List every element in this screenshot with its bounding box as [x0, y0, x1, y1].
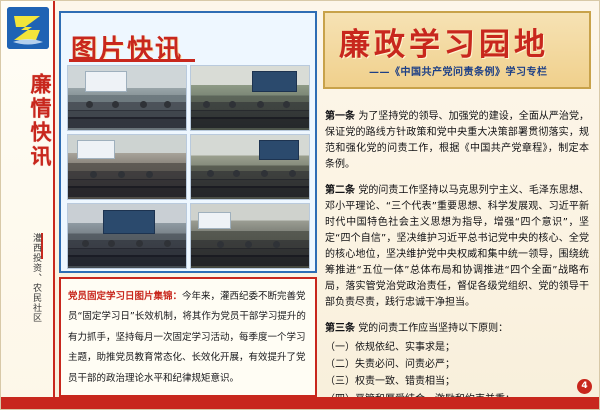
person-head [257, 101, 264, 108]
projector-screen-icon [252, 71, 296, 92]
left-banner-subtitle-text: 灌西投资、农民社区 [31, 233, 41, 323]
person-head [118, 171, 125, 178]
photo-meeting-5[interactable]: 会议室学习场景五 [67, 203, 187, 269]
person-head [108, 240, 115, 247]
left-banner-title: 廉情快讯 [5, 73, 51, 169]
seated-row [191, 186, 309, 197]
study-body: 第一条 为了坚持党的领导、加强党的建设，全面从严治党，保证党的路线方针政策和党中… [323, 95, 591, 410]
person-head [203, 101, 210, 108]
principle-item: （二）失责必问、问责必严； [325, 356, 589, 373]
seated-row [68, 117, 186, 128]
photo-meeting-6[interactable]: 会议室学习场景六 [190, 203, 310, 269]
article-2-label: 第二条 [325, 185, 355, 196]
person-head [146, 171, 153, 178]
principle-item: （一）依规依纪、实事求是； [325, 339, 589, 356]
caption-title: 党员固定学习日图片集锦： [68, 291, 182, 302]
projector-screen-icon [103, 210, 155, 234]
person-head [283, 101, 290, 108]
study-main-title: 廉政学习园地 [339, 19, 549, 64]
newsletter-page: 廉情快讯 灌西投资、农民社区 图片快讯 会议室学习场景一 [0, 0, 600, 410]
article-2: 第二条 党的问责工作坚持以马克思列宁主义、毛泽东思想、邓小平理论、“三个代表”重… [325, 183, 589, 311]
photo-grid: 会议室学习场景一 会议室学习场景二 会 [67, 65, 311, 269]
projector-screen-icon [259, 140, 299, 160]
person-head [229, 101, 236, 108]
person-head [245, 241, 252, 248]
footer-bar [1, 397, 600, 409]
projector-screen-icon [77, 140, 114, 159]
seated-row [68, 186, 186, 197]
person-head [82, 240, 89, 247]
article-1-label: 第一条 [325, 111, 355, 122]
left-banner-subtitle: 灌西投资、农民社区 [13, 233, 43, 323]
photo-meeting-3[interactable]: 会议室学习场景三 [67, 134, 187, 200]
zhangjiang-z-logo-icon [7, 7, 49, 49]
study-sub-title: ——《中国共产党问责条例》学习专栏 [369, 63, 548, 78]
photo-meeting-1[interactable]: 会议室学习场景一 [67, 65, 187, 131]
person-head [136, 240, 143, 247]
study-header: 廉政学习园地 ——《中国共产党问责条例》学习专栏 [323, 11, 591, 89]
person-head [164, 240, 171, 247]
caption-text: 今年来，灌西纪委不断完善党员“固定学习日”长效机制，将其作为党员干部学习提升的有… [68, 291, 306, 384]
page-number-badge: 4 [577, 379, 592, 394]
seated-row [68, 255, 186, 266]
article-2-text: 党的问责工作坚持以马克思列宁主义、毛泽东思想、邓小平理论、“三个代表”重要思想、… [325, 185, 589, 308]
person-head [273, 241, 280, 248]
photo-news-title-rule [69, 59, 195, 62]
photo-caption-box: 党员固定学习日图片集锦：今年来，灌西纪委不断完善党员“固定学习日”长效机制，将其… [59, 277, 317, 397]
photo-news-panel: 图片快讯 会议室学习场景一 [59, 11, 317, 273]
projector-screen-icon [198, 212, 231, 229]
photo-meeting-4[interactable]: 会议室学习场景四 [190, 134, 310, 200]
principle-item: （三）权责一致、错责相当； [325, 373, 589, 390]
article-3-label: 第三条 [325, 323, 355, 334]
person-head [90, 171, 97, 178]
seated-row [191, 255, 309, 266]
photo-meeting-2[interactable]: 会议室学习场景二 [190, 65, 310, 131]
article-1-text: 为了坚持党的领导、加强党的建设，全面从严治党，保证党的路线方针政策和党中央重大决… [325, 111, 589, 170]
projector-screen-icon [85, 71, 127, 92]
left-banner-rule [41, 233, 43, 259]
study-column: 廉政学习园地 ——《中国共产党问责条例》学习专栏 第一条 为了坚持党的领导、加强… [323, 11, 591, 410]
article-1: 第一条 为了坚持党的领导、加强党的建设，全面从严治党，保证党的路线方针政策和党中… [325, 109, 589, 173]
article-3: 第三条 党的问责工作应当坚持以下原则： [325, 321, 589, 337]
article-3-text: 党的问责工作应当坚持以下原则： [358, 323, 508, 334]
left-vertical-banner: 廉情快讯 灌西投资、农民社区 [1, 1, 55, 409]
person-head [217, 241, 224, 248]
seated-row [191, 117, 309, 128]
